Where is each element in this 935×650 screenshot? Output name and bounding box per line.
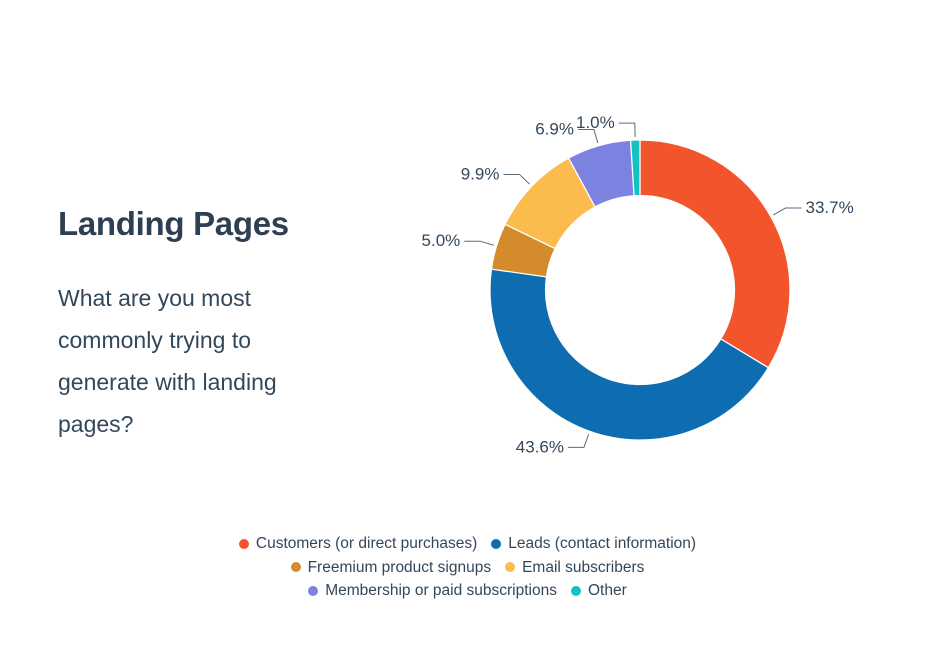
leader-line [503, 174, 529, 184]
legend-item[interactable]: Membership or paid subscriptions [308, 583, 557, 599]
survey-question: What are you most commonly trying to gen… [58, 278, 338, 445]
slice-value-label: 1.0% [576, 113, 615, 132]
legend-item[interactable]: Leads (contact information) [491, 536, 696, 552]
donut-slices [490, 140, 790, 440]
donut-chart-svg: 33.7%43.6%5.0%9.9%6.9%1.0% [380, 60, 925, 530]
slice-value-label: 33.7% [805, 198, 853, 217]
legend-item-label: Other [588, 583, 627, 599]
legend-row: Customers (or direct purchases)Leads (co… [232, 536, 703, 552]
donut-slice[interactable] [640, 140, 790, 368]
legend-color-dot-icon [291, 562, 301, 572]
legend-item-label: Email subscribers [522, 560, 644, 576]
legend-color-dot-icon [308, 586, 318, 596]
text-panel: Landing Pages What are you most commonly… [58, 206, 358, 446]
legend-item[interactable]: Other [571, 583, 627, 599]
slide-canvas: Landing Pages What are you most commonly… [0, 0, 935, 650]
legend-item-label: Freemium product signups [308, 560, 492, 576]
legend-color-dot-icon [505, 562, 515, 572]
legend-item[interactable]: Customers (or direct purchases) [239, 536, 477, 552]
slice-value-label: 43.6% [516, 437, 564, 456]
chart-legend: Customers (or direct purchases)Leads (co… [0, 536, 935, 607]
legend-color-dot-icon [239, 539, 249, 549]
legend-row: Freemium product signupsEmail subscriber… [284, 560, 652, 576]
legend-color-dot-icon [491, 539, 501, 549]
slice-value-label: 6.9% [535, 119, 574, 138]
leader-line [773, 208, 801, 215]
slice-value-label: 5.0% [422, 231, 461, 250]
legend-color-dot-icon [571, 586, 581, 596]
page-title: Landing Pages [58, 206, 358, 242]
leader-line [464, 241, 493, 245]
leader-line [568, 434, 589, 447]
slice-value-label: 9.9% [461, 164, 500, 183]
legend-row: Membership or paid subscriptionsOther [301, 583, 634, 599]
legend-item-label: Leads (contact information) [508, 536, 696, 552]
legend-item-label: Membership or paid subscriptions [325, 583, 557, 599]
donut-chart: 33.7%43.6%5.0%9.9%6.9%1.0% [380, 60, 925, 530]
leader-line [619, 123, 635, 137]
legend-item[interactable]: Freemium product signups [291, 560, 492, 576]
legend-item-label: Customers (or direct purchases) [256, 536, 477, 552]
donut-slice[interactable] [490, 269, 768, 440]
legend-item[interactable]: Email subscribers [505, 560, 644, 576]
